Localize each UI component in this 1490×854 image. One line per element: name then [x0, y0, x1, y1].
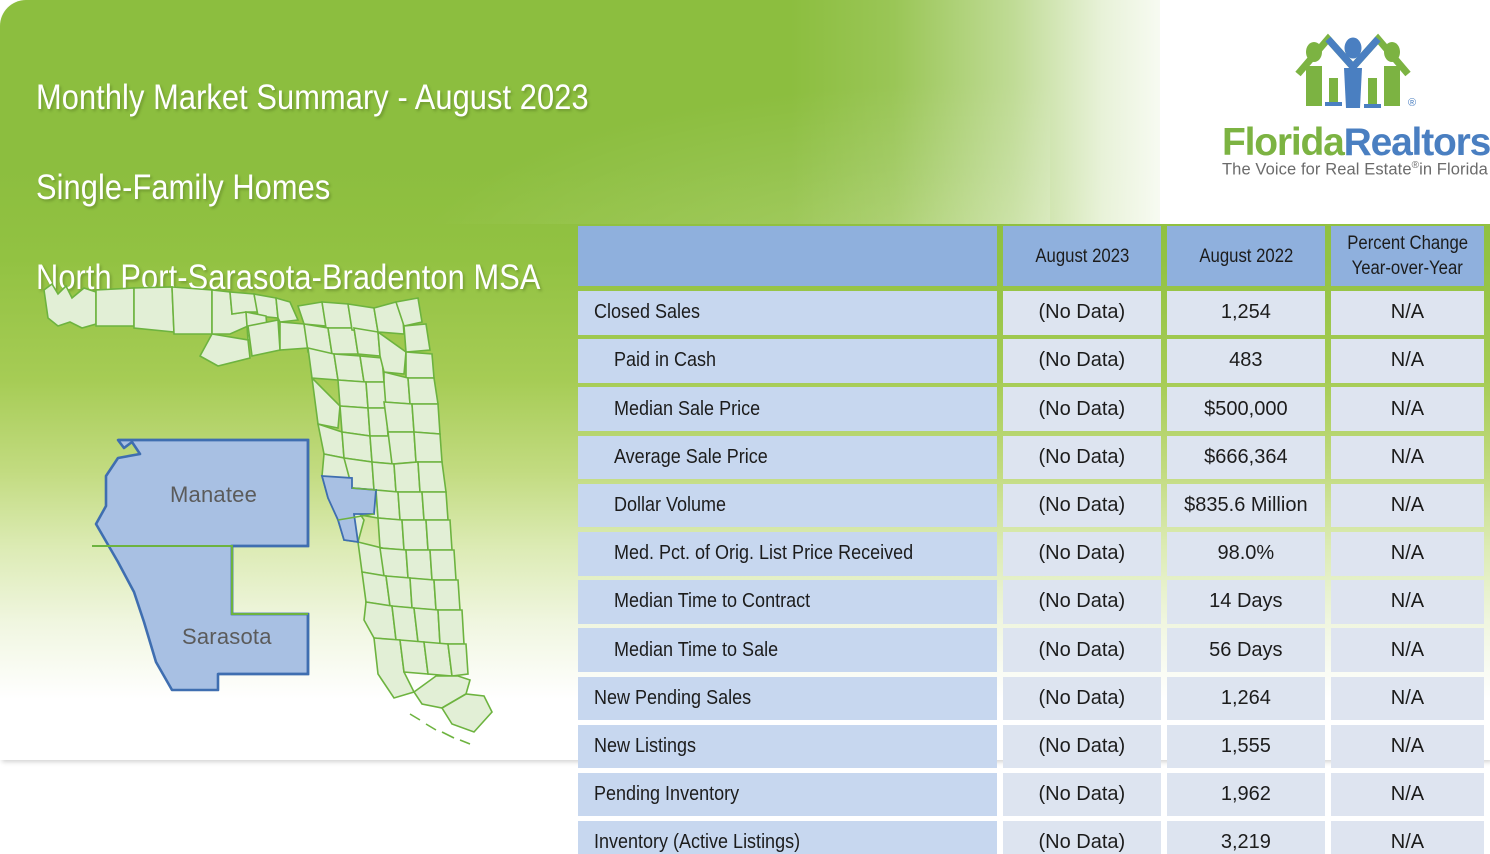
row-value-current: (No Data)	[1003, 677, 1161, 721]
table-header-row: August 2023 August 2022 Percent Change Y…	[578, 226, 1484, 286]
row-value-percent-change: N/A	[1331, 532, 1484, 576]
row-metric-label: Median Sale Price	[578, 387, 997, 431]
row-value-current: (No Data)	[1003, 436, 1161, 480]
row-metric-text: Pending Inventory	[594, 783, 739, 806]
row-metric-label: Paid in Cash	[578, 339, 997, 383]
table-row: Pending Inventory(No Data)1,962N/A	[578, 773, 1484, 817]
row-value-current: (No Data)	[1003, 821, 1161, 854]
row-value-prior: 1,555	[1167, 725, 1325, 769]
svg-text:®: ®	[1408, 97, 1416, 109]
table-row: New Pending Sales(No Data)1,264N/A	[578, 677, 1484, 721]
house-family-icon: ®	[1288, 22, 1418, 114]
logo-word-realtors: Realtors	[1344, 121, 1490, 164]
row-value-current: (No Data)	[1003, 628, 1161, 672]
table-row: Inventory (Active Listings)(No Data)3,21…	[578, 821, 1484, 854]
row-value-prior: 14 Days	[1167, 580, 1325, 624]
row-metric-label: New Listings	[578, 725, 997, 769]
row-metric-text: Closed Sales	[594, 301, 700, 324]
row-value-prior: 98.0%	[1167, 532, 1325, 576]
tagline-text-before: The Voice for Real Estate	[1222, 161, 1412, 179]
florida-realtors-logo: ® FloridaRealtors® The Voice for Real Es…	[1222, 22, 1480, 197]
header-cell-blank	[578, 226, 997, 286]
header-cell-current: August 2023	[1003, 226, 1161, 286]
row-value-current: (No Data)	[1003, 580, 1161, 624]
row-value-prior: 1,254	[1167, 291, 1325, 335]
row-value-percent-change: N/A	[1331, 628, 1484, 672]
logo-word-florida: Florida	[1222, 121, 1344, 164]
title-line-1: Monthly Market Summary - August 2023	[36, 75, 758, 120]
logo-wordmark: FloridaRealtors®	[1222, 114, 1480, 166]
row-metric-text: Median Sale Price	[614, 398, 760, 421]
map-label-manatee: Manatee	[170, 482, 257, 508]
row-metric-text: Med. Pct. of Orig. List Price Received	[614, 542, 913, 565]
row-metric-text: New Pending Sales	[594, 687, 751, 710]
row-metric-text: New Listings	[594, 735, 696, 758]
row-value-prior: 1,962	[1167, 773, 1325, 817]
row-value-current: (No Data)	[1003, 291, 1161, 335]
tagline-text-after: in Florida	[1419, 161, 1488, 179]
row-value-current: (No Data)	[1003, 339, 1161, 383]
row-metric-label: New Pending Sales	[578, 677, 997, 721]
row-value-percent-change: N/A	[1331, 821, 1484, 854]
row-metric-text: Inventory (Active Listings)	[594, 831, 800, 854]
header-prior-label: August 2022	[1199, 244, 1293, 269]
title-line-2: Single-Family Homes	[36, 165, 758, 210]
row-metric-text: Average Sale Price	[614, 446, 768, 469]
table-row: Median Time to Contract(No Data)14 DaysN…	[578, 580, 1484, 624]
florida-map: Manatee Sarasota	[22, 262, 582, 762]
row-value-percent-change: N/A	[1331, 387, 1484, 431]
row-value-percent-change: N/A	[1331, 773, 1484, 817]
logo-tagline: The Voice for Real Estate®in Florida	[1222, 160, 1480, 180]
row-metric-label: Pending Inventory	[578, 773, 997, 817]
row-value-percent-change: N/A	[1331, 436, 1484, 480]
row-metric-text: Dollar Volume	[614, 494, 726, 517]
table-row: Average Sale Price(No Data)$666,364N/A	[578, 436, 1484, 480]
row-value-percent-change: N/A	[1331, 725, 1484, 769]
row-value-current: (No Data)	[1003, 773, 1161, 817]
row-metric-label: Closed Sales	[578, 291, 997, 335]
header-cell-prior: August 2022	[1167, 226, 1325, 286]
row-metric-label: Med. Pct. of Orig. List Price Received	[578, 532, 997, 576]
table-row: Closed Sales(No Data)1,254N/A	[578, 291, 1484, 335]
table-row: Med. Pct. of Orig. List Price Received(N…	[578, 532, 1484, 576]
map-label-sarasota: Sarasota	[182, 624, 272, 650]
row-value-percent-change: N/A	[1331, 484, 1484, 528]
header-percent-line2: Year-over-Year	[1352, 256, 1463, 281]
tagline-registered-icon: ®	[1412, 160, 1419, 171]
report-page: Monthly Market Summary - August 2023 Sin…	[0, 0, 1490, 854]
row-metric-text: Paid in Cash	[614, 349, 716, 372]
row-value-prior: $666,364	[1167, 436, 1325, 480]
row-metric-label: Median Time to Sale	[578, 628, 997, 672]
row-value-prior: 56 Days	[1167, 628, 1325, 672]
header-cell-percent-change: Percent Change Year-over-Year	[1331, 226, 1484, 286]
row-value-current: (No Data)	[1003, 725, 1161, 769]
table-row: Median Time to Sale(No Data)56 DaysN/A	[578, 628, 1484, 672]
row-value-prior: $500,000	[1167, 387, 1325, 431]
row-metric-label: Inventory (Active Listings)	[578, 821, 997, 854]
row-metric-label: Dollar Volume	[578, 484, 997, 528]
row-value-prior: 3,219	[1167, 821, 1325, 854]
table-row: Dollar Volume(No Data)$835.6 MillionN/A	[578, 484, 1484, 528]
row-value-percent-change: N/A	[1331, 580, 1484, 624]
header-percent-line1: Percent Change	[1347, 231, 1468, 256]
row-value-prior: 1,264	[1167, 677, 1325, 721]
row-value-current: (No Data)	[1003, 532, 1161, 576]
row-value-prior: $835.6 Million	[1167, 484, 1325, 528]
row-value-prior: 483	[1167, 339, 1325, 383]
market-summary-table: August 2023 August 2022 Percent Change Y…	[578, 226, 1484, 854]
header-current-label: August 2023	[1035, 244, 1129, 269]
row-metric-label: Median Time to Contract	[578, 580, 997, 624]
row-value-current: (No Data)	[1003, 484, 1161, 528]
table-row: New Listings(No Data)1,555N/A	[578, 725, 1484, 769]
row-value-percent-change: N/A	[1331, 339, 1484, 383]
row-value-percent-change: N/A	[1331, 677, 1484, 721]
row-value-current: (No Data)	[1003, 387, 1161, 431]
row-metric-text: Median Time to Contract	[614, 590, 810, 613]
table-row: Median Sale Price(No Data)$500,000N/A	[578, 387, 1484, 431]
row-value-percent-change: N/A	[1331, 291, 1484, 335]
table-row: Paid in Cash(No Data)483N/A	[578, 339, 1484, 383]
row-metric-text: Median Time to Sale	[614, 639, 778, 662]
row-metric-label: Average Sale Price	[578, 436, 997, 480]
